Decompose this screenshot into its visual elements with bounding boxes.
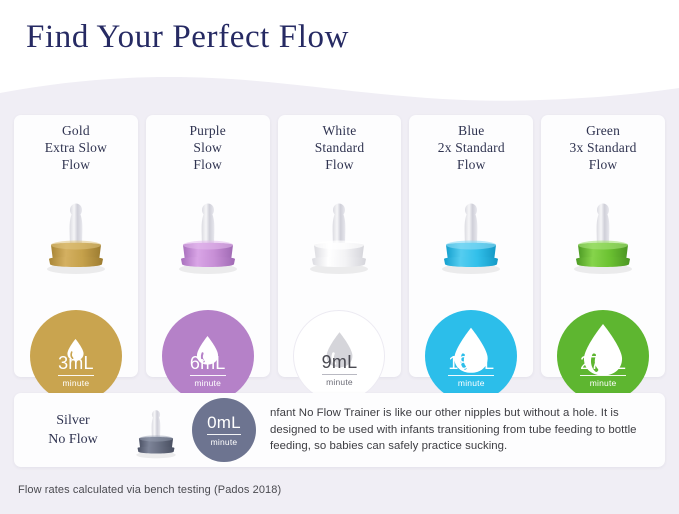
no-flow-color-name: Silver <box>18 411 128 430</box>
no-flow-label: Silver No Flow <box>18 411 128 449</box>
nipple-image <box>564 193 642 275</box>
card-flow-word: Flow <box>409 156 533 173</box>
flow-card[interactable]: White Standard Flow <box>278 115 402 377</box>
card-title: White Standard Flow <box>278 122 402 173</box>
flow-rate-badge: 18mL minute <box>425 310 517 402</box>
flow-card-row: Gold Extra Slow Flow <box>14 115 665 377</box>
no-flow-rate-value: 0mL <box>207 413 241 435</box>
card-title: Gold Extra Slow Flow <box>14 122 138 173</box>
flow-rate-badge: 6mL minute <box>162 310 254 402</box>
nipple-image <box>432 193 510 275</box>
flow-chart-page: Find Your Perfect Flow Gold Extra Slow F… <box>0 0 679 514</box>
card-color-name: Purple <box>146 122 270 139</box>
flow-rate-value: 3mL <box>58 354 94 376</box>
card-color-name: White <box>278 122 402 139</box>
card-flow-word: Flow <box>14 156 138 173</box>
nipple-image <box>169 193 247 275</box>
flow-rate-badge: 27mL minute <box>557 310 649 402</box>
flow-card[interactable]: Gold Extra Slow Flow <box>14 115 138 377</box>
card-flow-descriptor: Extra Slow <box>14 139 138 156</box>
flow-rate-unit: minute <box>326 377 353 387</box>
card-flow-descriptor: Slow <box>146 139 270 156</box>
nipple-image-silver <box>124 399 188 461</box>
card-title: Purple Slow Flow <box>146 122 270 173</box>
no-flow-rate-unit: minute <box>211 437 238 447</box>
card-flow-word: Flow <box>278 156 402 173</box>
flow-rate-unit: minute <box>590 378 617 388</box>
flow-card[interactable]: Green 3x Standard Flow <box>541 115 665 377</box>
flow-rate-badge: 3mL minute <box>30 310 122 402</box>
no-flow-description: nfant No Flow Trainer is like our other … <box>270 405 665 455</box>
card-color-name: Blue <box>409 122 533 139</box>
flow-rate-unit: minute <box>458 378 485 388</box>
no-flow-descriptor: No Flow <box>18 430 128 449</box>
nipple-image <box>300 193 378 275</box>
card-title: Blue 2x Standard Flow <box>409 122 533 173</box>
flow-rate-badge: 9mL minute <box>293 310 385 402</box>
flow-rate-value: 18mL <box>448 354 494 376</box>
flow-card[interactable]: Purple Slow Flow <box>146 115 270 377</box>
flow-rate-unit: minute <box>63 378 90 388</box>
page-title: Find Your Perfect Flow <box>26 17 349 57</box>
card-flow-word: Flow <box>146 156 270 173</box>
footnote: Flow rates calculated via bench testing … <box>18 483 281 497</box>
flow-rate-value: 9mL <box>322 353 358 375</box>
flow-rate-value: 27mL <box>580 354 626 376</box>
card-flow-descriptor: 3x Standard <box>541 139 665 156</box>
no-flow-rate-badge: 0mL minute <box>192 398 256 462</box>
flow-rate-unit: minute <box>194 378 221 388</box>
flow-card[interactable]: Blue 2x Standard Flow <box>409 115 533 377</box>
card-flow-word: Flow <box>541 156 665 173</box>
card-flow-descriptor: 2x Standard <box>409 139 533 156</box>
card-color-name: Gold <box>14 122 138 139</box>
card-color-name: Green <box>541 122 665 139</box>
card-flow-descriptor: Standard <box>278 139 402 156</box>
flow-rate-value: 6mL <box>190 354 226 376</box>
nipple-image <box>37 193 115 275</box>
no-flow-panel[interactable]: Silver No Flow 0mL minute <box>14 393 665 467</box>
card-title: Green 3x Standard Flow <box>541 122 665 173</box>
